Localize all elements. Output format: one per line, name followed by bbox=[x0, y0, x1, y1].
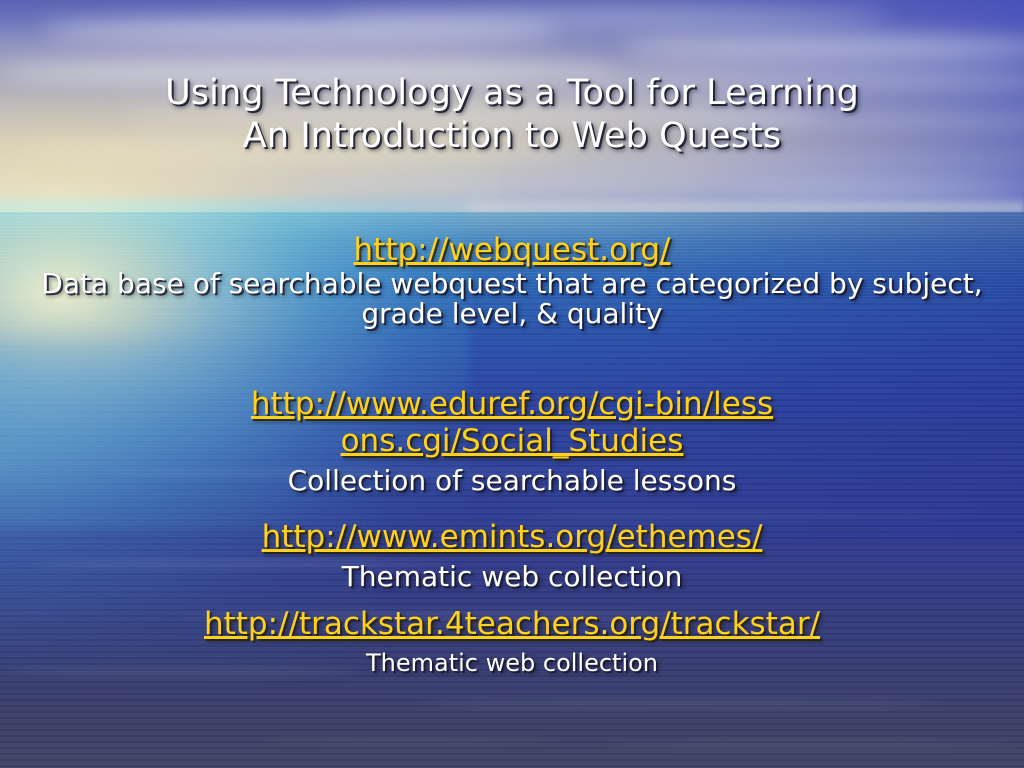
slide-title-line-1: Using Technology as a Tool for Learning bbox=[0, 72, 1024, 115]
resource-description-emints: Thematic web collection bbox=[0, 556, 1024, 598]
resource-description-eduref: Collection of searchable lessons bbox=[0, 460, 1024, 502]
slide-title-line-2: An Introduction to Web Quests bbox=[0, 115, 1024, 158]
slide-content: Using Technology as a Tool for Learning … bbox=[0, 0, 1024, 768]
resource-link-eduref[interactable]: http://www.eduref.org/cgi-bin/lessons.cg… bbox=[0, 386, 1024, 460]
resource-link-eduref-text: http://www.eduref.org/cgi-bin/lessons.cg… bbox=[242, 386, 782, 460]
resource-group-trackstar: http://trackstar.4teachers.org/trackstar… bbox=[0, 606, 1024, 683]
resource-group-webquest: http://webquest.org/ Data base of search… bbox=[0, 232, 1024, 329]
resource-group-emints: http://www.emints.org/ethemes/ Thematic … bbox=[0, 518, 1024, 598]
presentation-slide: Using Technology as a Tool for Learning … bbox=[0, 0, 1024, 768]
resource-description-trackstar: Thematic web collection bbox=[0, 643, 1024, 683]
resource-description-webquest: Data base of searchable webquest that ar… bbox=[0, 269, 1024, 329]
resource-group-eduref: http://www.eduref.org/cgi-bin/lessons.cg… bbox=[0, 386, 1024, 502]
resource-link-trackstar[interactable]: http://trackstar.4teachers.org/trackstar… bbox=[0, 606, 1024, 643]
resource-link-trackstar-text: http://trackstar.4teachers.org/trackstar… bbox=[162, 606, 862, 643]
resource-link-emints[interactable]: http://www.emints.org/ethemes/ bbox=[0, 518, 1024, 556]
resource-link-webquest[interactable]: http://webquest.org/ bbox=[0, 232, 1024, 269]
slide-title: Using Technology as a Tool for Learning … bbox=[0, 72, 1024, 158]
